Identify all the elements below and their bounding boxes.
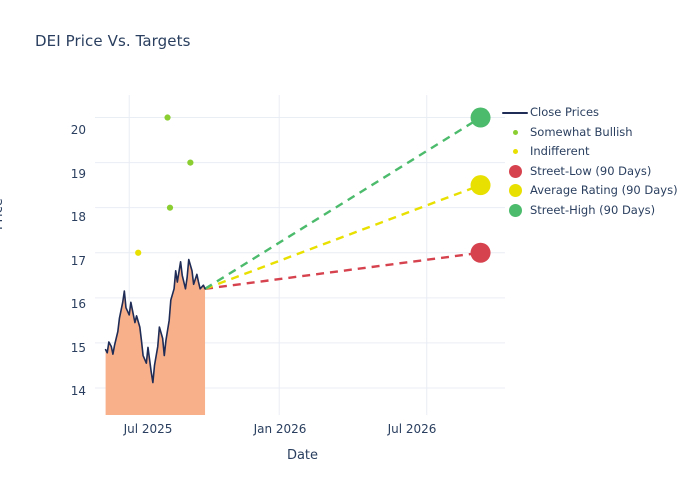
legend-item[interactable]: Close Prices (500, 103, 696, 123)
legend-dot-swatch (500, 130, 530, 135)
legend-item[interactable]: Street-Low (90 Days) (500, 162, 696, 182)
plot-canvas (0, 0, 700, 500)
legend-item[interactable]: Street-High (90 Days) (500, 201, 696, 221)
legend-item-label: Average Rating (90 Days) (530, 185, 678, 197)
legend-dot-swatch (500, 165, 530, 178)
legend-item-label: Close Prices (530, 107, 599, 119)
chart-legend: Close PricesSomewhat BullishIndifferentS… (500, 103, 696, 220)
circle-marker-icon (509, 204, 522, 217)
legend-item-label: Street-Low (90 Days) (530, 166, 651, 178)
legend-dot-swatch (500, 204, 530, 217)
legend-item[interactable]: Indifferent (500, 142, 696, 162)
chart-container: DEI Price Vs. Targets 20 19 18 17 16 15 … (0, 0, 700, 500)
legend-item-label: Street-High (90 Days) (530, 205, 655, 217)
legend-dot-swatch (500, 184, 530, 197)
legend-item[interactable]: Average Rating (90 Days) (500, 181, 696, 201)
legend-dot-swatch (500, 149, 530, 154)
circle-marker-icon (513, 130, 518, 135)
close-price-area (106, 260, 205, 415)
legend-item-label: Somewhat Bullish (530, 127, 633, 139)
rating-markers (135, 114, 193, 255)
legend-item[interactable]: Somewhat Bullish (500, 123, 696, 143)
legend-item-label: Indifferent (530, 146, 590, 158)
circle-marker-icon (513, 149, 518, 154)
projection-lines (205, 118, 481, 289)
legend-line-swatch (500, 112, 530, 115)
circle-marker-icon (509, 184, 522, 197)
target-markers (471, 108, 491, 263)
circle-marker-icon (509, 165, 522, 178)
line-icon (502, 112, 528, 115)
